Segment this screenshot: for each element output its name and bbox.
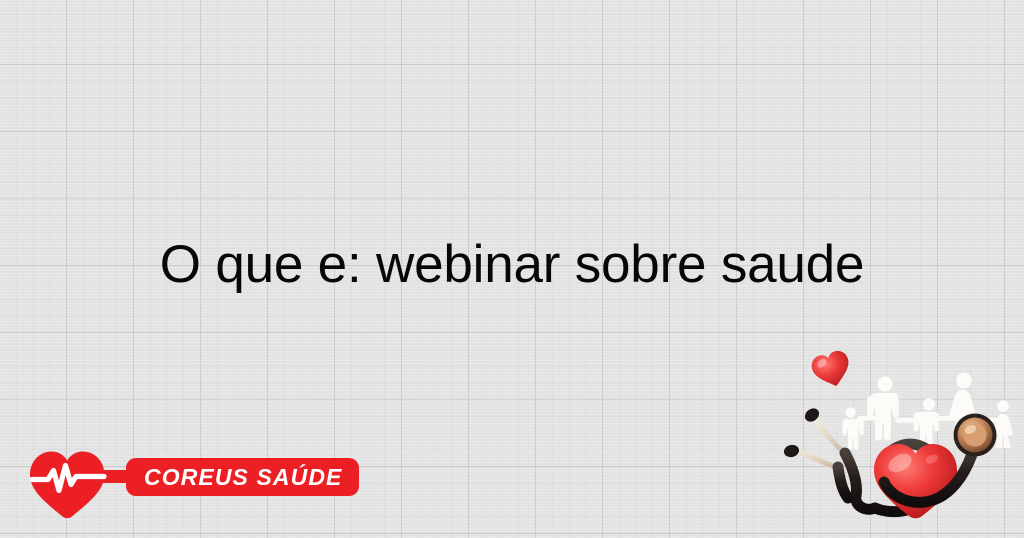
stethoscope-chestpiece <box>954 414 997 457</box>
page-title-text: O que e: webinar sobre saude <box>160 236 864 293</box>
page-title: O que e: webinar sobre saude <box>0 236 1024 293</box>
brand-name-badge: COREUS SAÚDE <box>126 458 359 496</box>
stethoscope-ear-tubes <box>794 418 846 468</box>
brand-name-text: COREUS SAÚDE <box>144 466 343 489</box>
heart-ecg-icon <box>28 448 128 518</box>
slide-canvas: O que e: webinar sobre saude COREUS SAÚD… <box>0 0 1024 538</box>
small-floating-heart <box>809 348 854 391</box>
stethoscope-heart-family-illustration <box>778 348 1024 538</box>
brand-logo: COREUS SAÚDE <box>28 448 358 518</box>
